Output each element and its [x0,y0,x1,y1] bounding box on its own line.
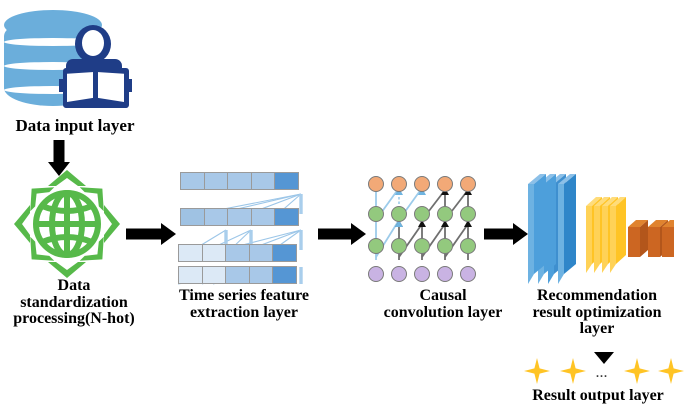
recommendation-optimization-label: Recommendation result optimization layer [512,288,682,338]
time-series-grid-icon [178,172,310,284]
ts-cell [204,208,229,226]
book-left-edge [59,79,67,92]
globe-network-icon [12,168,122,280]
star-icon [658,358,684,384]
ts-cell [202,244,227,262]
data-standardization-label: Data standardization processing(N-hot) [0,278,148,328]
ts-cell [249,244,274,262]
ts-cell [178,266,203,284]
causal-node [414,176,430,192]
ellipsis-label: ... [596,366,608,381]
arrow-causal-to-recommendation [484,222,528,246]
causal-node [414,206,430,222]
causal-convolution-label: Causal convolution layer [358,288,528,321]
ts-cell [272,266,297,284]
ts-cell [251,172,276,190]
table-row [180,172,298,190]
causal-convolution-network-icon [366,172,484,282]
cnn-slabs-svg [524,172,674,284]
ts-cell [227,172,252,190]
ts-cell [204,172,229,190]
causal-node [368,238,384,254]
causal-node [391,176,407,192]
book-right-edge [124,79,132,92]
ts-cell [272,244,297,262]
ts-cell [202,266,227,284]
star-icon [560,358,586,384]
dropdown-triangle-icon [594,352,614,364]
book-spine [93,71,98,105]
star-icon [624,358,650,384]
ts-cell [249,266,274,284]
table-row [178,244,296,262]
arrow-timeseries-to-causal [318,222,366,246]
causal-node [437,238,453,254]
globe-svg [12,168,122,280]
ts-cell [227,208,252,226]
ts-cell [180,208,205,226]
ts-cell [274,208,299,226]
data-input-layer-label: Data input layer [0,117,150,135]
causal-node [368,176,384,192]
book-right-page [97,72,124,102]
book-left-page [67,72,94,102]
causal-node [460,176,476,192]
ts-cell [225,266,250,284]
star-rating-icon: ... [518,352,678,390]
person-reading-icon [63,25,141,110]
causal-node [368,266,384,282]
causal-node [391,266,407,282]
star-icon [524,358,550,384]
causal-node [391,238,407,254]
ts-cell [251,208,276,226]
causal-node [391,206,407,222]
table-row [178,266,296,284]
result-output-layer-label: Result output layer [512,388,684,405]
causal-node [460,206,476,222]
causal-node [460,266,476,282]
causal-node [437,266,453,282]
ts-cell [180,172,205,190]
ts-cell [178,244,203,262]
causal-node [414,266,430,282]
time-series-label: Time series feature extraction layer [160,288,328,321]
cnn-layers-icon [524,172,674,282]
ts-cell [225,244,250,262]
diagram-canvas: Data input layer [0,0,685,412]
causal-node [437,206,453,222]
causal-node [368,206,384,222]
ts-cell [274,172,299,190]
causal-node [414,238,430,254]
person-face-icon [82,30,104,56]
table-row [180,208,298,226]
causal-node [437,176,453,192]
causal-node [460,238,476,254]
